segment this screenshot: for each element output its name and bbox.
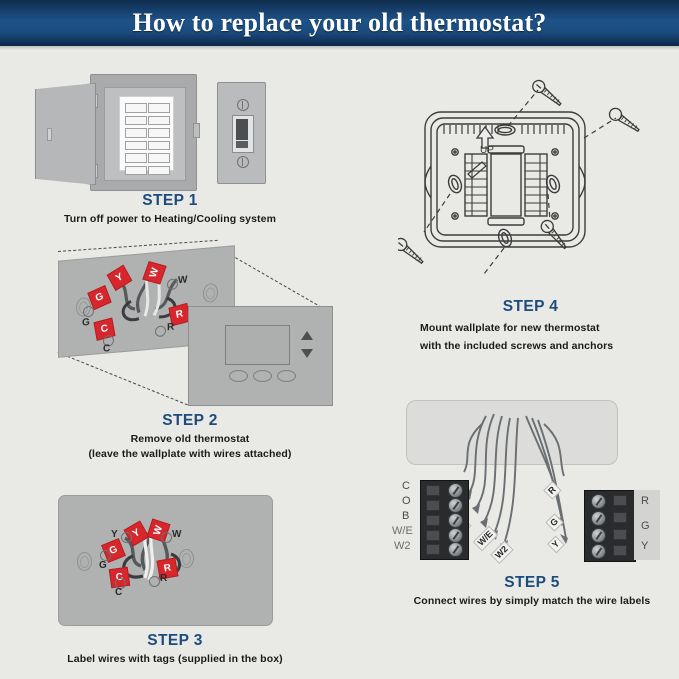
step2-graphic: Y G C R W W G C R <box>40 248 340 408</box>
breaker-switch <box>125 141 147 151</box>
header-shadow <box>0 46 679 50</box>
wallplate-line-art: UP <box>398 68 663 283</box>
right-block-label-r: R <box>641 495 649 507</box>
terminal-label-w: W <box>178 274 187 286</box>
breaker-switch <box>148 116 170 126</box>
step5-caption: STEP 5 Connect wires by simply match the… <box>398 574 666 607</box>
breaker-panel-inner <box>104 87 186 181</box>
zoom-guide-line-bottom <box>58 352 188 405</box>
thermostat-display <box>225 325 290 365</box>
breaker-panel-face <box>119 96 174 171</box>
step3-graphic: Y G C R W Y W G C R <box>58 495 273 625</box>
thermostat-down-arrow-icon[interactable] <box>301 349 313 358</box>
switch-toggle <box>236 119 248 140</box>
left-terminal-screw-w2[interactable] <box>448 542 463 557</box>
infographic-page: How to replace your old thermostat? <box>0 0 679 679</box>
breaker-column-right <box>148 103 168 178</box>
step4-title: STEP 4 <box>398 298 663 316</box>
terminal-label-w: W <box>172 529 181 540</box>
right-terminal-screw-r[interactable] <box>591 494 606 509</box>
step3-title: STEP 3 <box>30 632 320 650</box>
breaker-switch <box>148 128 170 138</box>
right-terminal-screw-g[interactable] <box>591 528 606 543</box>
breaker-switch <box>148 103 170 113</box>
panel-door-handle <box>47 128 52 141</box>
right-terminal-block <box>584 490 636 562</box>
breaker-switch <box>125 153 147 163</box>
terminal-y <box>121 532 132 543</box>
left-block-label-we: W/E <box>392 525 413 537</box>
step1-title: STEP 1 <box>35 192 305 210</box>
left-terminal-block <box>420 480 469 560</box>
thermostat-up-arrow-icon[interactable] <box>301 331 313 340</box>
breaker-panel-body <box>90 74 197 191</box>
terminal-label-g: G <box>82 317 90 329</box>
switch-plate-screw-top <box>237 99 249 111</box>
breaker-column-left <box>125 103 145 178</box>
left-block-label-c: C <box>402 480 410 492</box>
breaker-panel-door <box>35 83 96 185</box>
terminal-w <box>161 532 172 543</box>
breaker-switch <box>125 103 147 113</box>
left-terminal-screw-o[interactable] <box>448 498 463 513</box>
light-switch-plate <box>217 82 266 184</box>
left-terminal-screw-b[interactable] <box>448 513 463 528</box>
switch-plate-screw-bottom <box>237 156 249 168</box>
breaker-switch <box>148 166 170 176</box>
terminal-label-g: G <box>99 560 107 571</box>
right-block-label-g: G <box>641 520 650 532</box>
switch-toggle-base <box>236 141 248 148</box>
step4-caption: STEP 4 Mount wallplate for new thermosta… <box>398 298 663 352</box>
switch-toggle-frame <box>232 115 254 153</box>
step2-line-1: Remove old thermostat <box>40 433 340 445</box>
thermostat-button-1[interactable] <box>229 370 248 382</box>
step2-caption: STEP 2 Remove old thermostat (leave the … <box>40 412 340 460</box>
step3-caption: STEP 3 Label wires with tags (supplied i… <box>30 632 320 665</box>
breaker-switch <box>125 116 147 126</box>
step4-line-2: with the included screws and anchors <box>398 340 663 352</box>
left-terminal-screw-c[interactable] <box>448 483 463 498</box>
terminal-label-c: C <box>103 343 110 355</box>
step5-line-1: Connect wires by simply match the wire l… <box>398 595 666 607</box>
left-terminal-screw-we[interactable] <box>448 528 463 543</box>
terminal-label-r: R <box>160 573 167 584</box>
step5-title: STEP 5 <box>398 574 666 592</box>
step1-line-1: Turn off power to Heating/Cooling system <box>35 213 305 225</box>
terminal-r <box>149 576 160 587</box>
screw-left <box>398 236 426 267</box>
breaker-switch <box>148 141 170 151</box>
step2-title: STEP 2 <box>40 412 340 430</box>
left-block-label-o: O <box>402 495 411 507</box>
step1-caption: STEP 1 Turn off power to Heating/Cooling… <box>35 192 305 225</box>
right-block-label-y: Y <box>641 540 648 552</box>
terminal-label-r: R <box>167 322 174 334</box>
page-header: How to replace your old thermostat? <box>0 0 679 46</box>
terminal-label-c: C <box>115 587 122 598</box>
left-block-label-b: B <box>402 510 409 522</box>
step1-graphic <box>35 72 305 192</box>
page-title: How to replace your old thermostat? <box>132 8 546 38</box>
thermostat-button-2[interactable] <box>253 370 272 382</box>
step3-line-1: Label wires with tags (supplied in the b… <box>30 653 320 665</box>
wallplate-labeled: Y G C R W Y W G C R <box>58 495 273 626</box>
thermostat-button-3[interactable] <box>277 370 296 382</box>
breaker-switch <box>148 153 170 163</box>
anchor-right <box>607 106 642 135</box>
screw-top <box>530 78 564 109</box>
step4-line-1: Mount wallplate for new thermostat <box>398 322 663 334</box>
left-block-label-w2: W2 <box>394 540 411 552</box>
up-label: UP <box>480 145 494 156</box>
terminal-label-y: Y <box>111 529 118 540</box>
breaker-switch <box>125 128 147 138</box>
step4-graphic: UP <box>398 68 663 283</box>
right-terminal-screw-y[interactable] <box>591 544 606 559</box>
old-thermostat <box>188 306 333 406</box>
breaker-switch <box>125 166 147 176</box>
step2-line-2: (leave the wallplate with wires attached… <box>40 448 340 460</box>
panel-latch <box>193 123 200 138</box>
right-terminal-screw-2[interactable] <box>591 511 606 526</box>
step5-graphic: C O B W/E W2 R G Y C O B W/E W2 <box>398 398 666 570</box>
